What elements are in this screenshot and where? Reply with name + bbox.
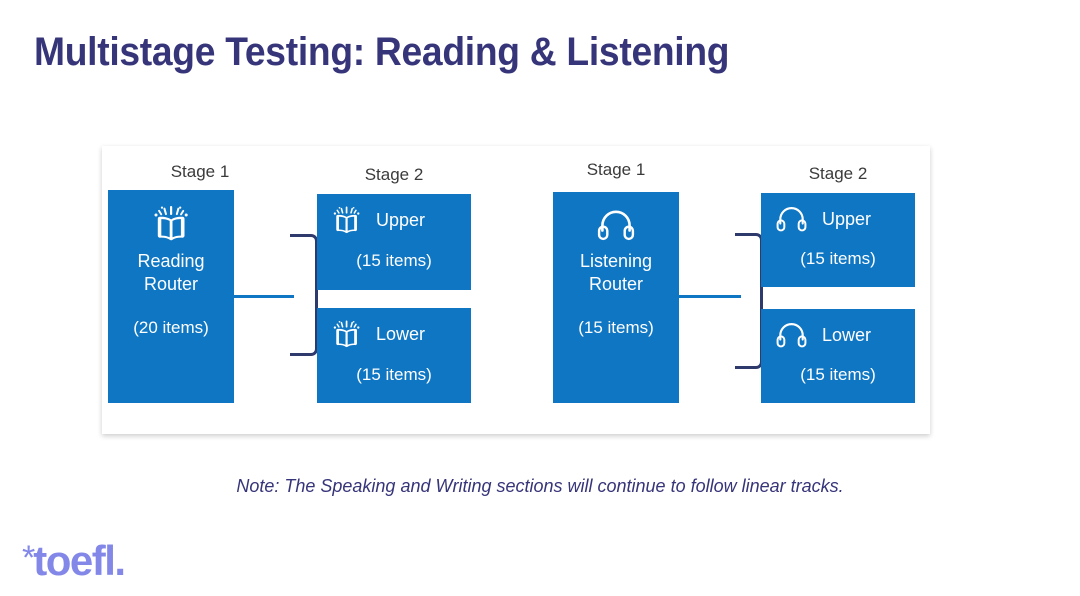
open-book-icon [151, 206, 191, 242]
stage-label-listening-stage-2: Stage 2 [761, 164, 915, 184]
node-reading-upper[interactable]: Upper (15 items) [317, 194, 471, 290]
toefl-wordmark: toefl [33, 539, 114, 583]
footnote-text: Note: The Speaking and Writing sections … [0, 476, 1080, 497]
node-listening-upper[interactable]: Upper (15 items) [761, 193, 915, 287]
node-listening-router[interactable]: Listening Router (15 items) [553, 192, 679, 403]
node-title: Upper [822, 209, 871, 230]
open-book-icon [331, 206, 362, 235]
headphones-icon [596, 208, 636, 242]
connector-bracket-listening [735, 233, 763, 369]
node-title: Reading Router [137, 250, 204, 296]
node-listening-lower[interactable]: Lower (15 items) [761, 309, 915, 403]
toefl-logo-dot: . [114, 539, 126, 583]
node-items: (15 items) [578, 318, 654, 338]
connector-stem-reading [234, 295, 294, 298]
page-title: Multistage Testing: Reading & Listening [34, 30, 729, 75]
stage-label-listening-stage-1: Stage 1 [553, 160, 679, 180]
connector-stem-listening [679, 295, 741, 298]
node-items: (15 items) [317, 251, 471, 271]
stage-label-reading-stage-2: Stage 2 [317, 165, 471, 185]
open-book-icon [331, 320, 362, 349]
toefl-logo: * toefl . [22, 539, 126, 583]
node-items: (15 items) [317, 365, 471, 385]
node-title: Lower [822, 325, 871, 346]
headphones-icon [775, 321, 808, 349]
node-reading-lower[interactable]: Lower (15 items) [317, 308, 471, 403]
node-title: Listening Router [580, 250, 652, 296]
node-items: (20 items) [133, 318, 209, 338]
node-title: Upper [376, 210, 425, 231]
node-title: Lower [376, 324, 425, 345]
node-items: (15 items) [761, 365, 915, 385]
diagram-card: Stage 1 Stage 2 [102, 146, 930, 434]
connector-bracket-reading [290, 234, 318, 356]
node-reading-router[interactable]: Reading Router (20 items) [108, 190, 234, 403]
headphones-icon [775, 205, 808, 233]
node-items: (15 items) [761, 249, 915, 269]
stage-label-reading-stage-1: Stage 1 [135, 162, 265, 182]
